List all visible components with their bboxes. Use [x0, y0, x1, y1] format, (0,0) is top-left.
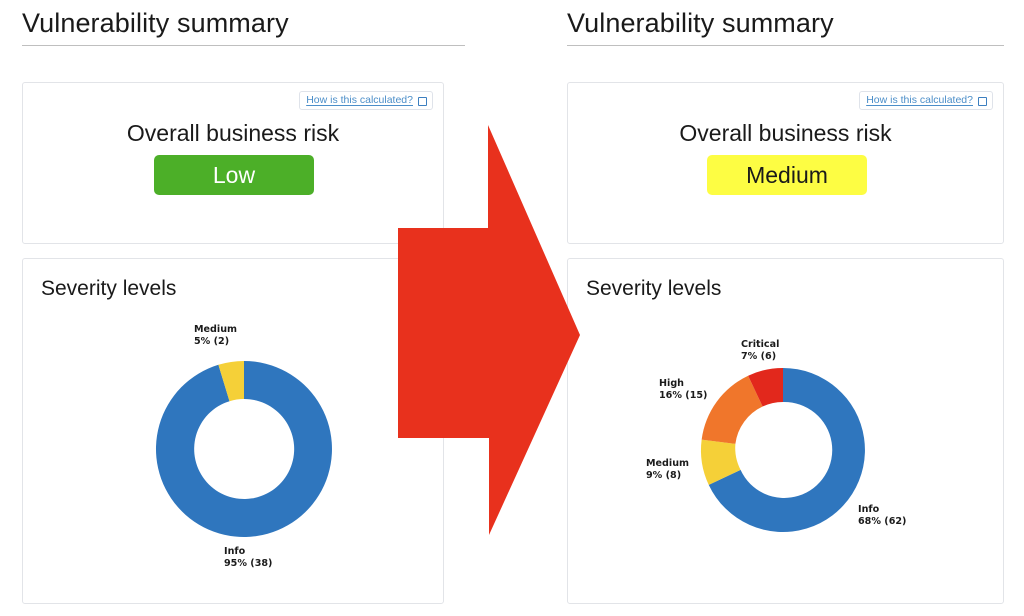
donut-label-medium-value: 5% (2)	[194, 336, 229, 347]
external-link-icon	[978, 97, 987, 106]
donut-chart-svg: Medium 5% (2) Info 95% (38)	[120, 318, 360, 580]
donut-label-critical-value: 7% (6)	[741, 351, 776, 362]
donut-label-info-name: Info	[224, 546, 246, 557]
calc-link-label: How is this calculated?	[306, 94, 413, 106]
donut-label-medium-value: 9% (8)	[646, 470, 681, 481]
donut-label-medium-name: Medium	[194, 324, 237, 335]
external-link-icon	[418, 97, 427, 106]
business-risk-card: How is this calculated? Overall business…	[22, 82, 444, 244]
business-risk-badge: Medium	[707, 155, 867, 195]
business-risk-badge: Low	[154, 155, 314, 195]
donut-label-info-value: 95% (38)	[224, 558, 272, 569]
business-risk-card: How is this calculated? Overall business…	[567, 82, 1004, 244]
calc-link-label: How is this calculated?	[866, 94, 973, 106]
page-title: Vulnerability summary	[567, 8, 834, 39]
donut-label-critical-name: Critical	[741, 339, 779, 350]
severity-levels-heading: Severity levels	[586, 277, 721, 301]
page-title: Vulnerability summary	[22, 8, 289, 39]
title-divider	[567, 45, 1004, 46]
severity-levels-heading: Severity levels	[41, 277, 176, 301]
donut-label-info-value: 68% (62)	[858, 516, 906, 527]
panel-after: Vulnerability summary How is this calcul…	[545, 0, 1024, 616]
overall-business-risk-label: Overall business risk	[568, 120, 1003, 147]
how-is-this-calculated-link[interactable]: How is this calculated?	[859, 91, 993, 110]
donut-label-high-value: 16% (15)	[659, 390, 707, 401]
donut-chart-svg: Critical 7% (6) High 16% (15) Medium 9% …	[620, 330, 940, 580]
overall-business-risk-label: Overall business risk	[23, 120, 443, 147]
donut-label-high-name: High	[659, 378, 684, 389]
donut-label-info-name: Info	[858, 504, 880, 515]
how-is-this-calculated-link[interactable]: How is this calculated?	[299, 91, 433, 110]
comparison-stage: Vulnerability summary How is this calcul…	[0, 0, 1024, 616]
panel-before: Vulnerability summary How is this calcul…	[0, 0, 500, 616]
title-divider	[22, 45, 465, 46]
severity-donut-after: Critical 7% (6) High 16% (15) Medium 9% …	[620, 330, 940, 580]
severity-donut-before: Medium 5% (2) Info 95% (38)	[120, 318, 360, 580]
donut-label-medium-name: Medium	[646, 458, 689, 469]
